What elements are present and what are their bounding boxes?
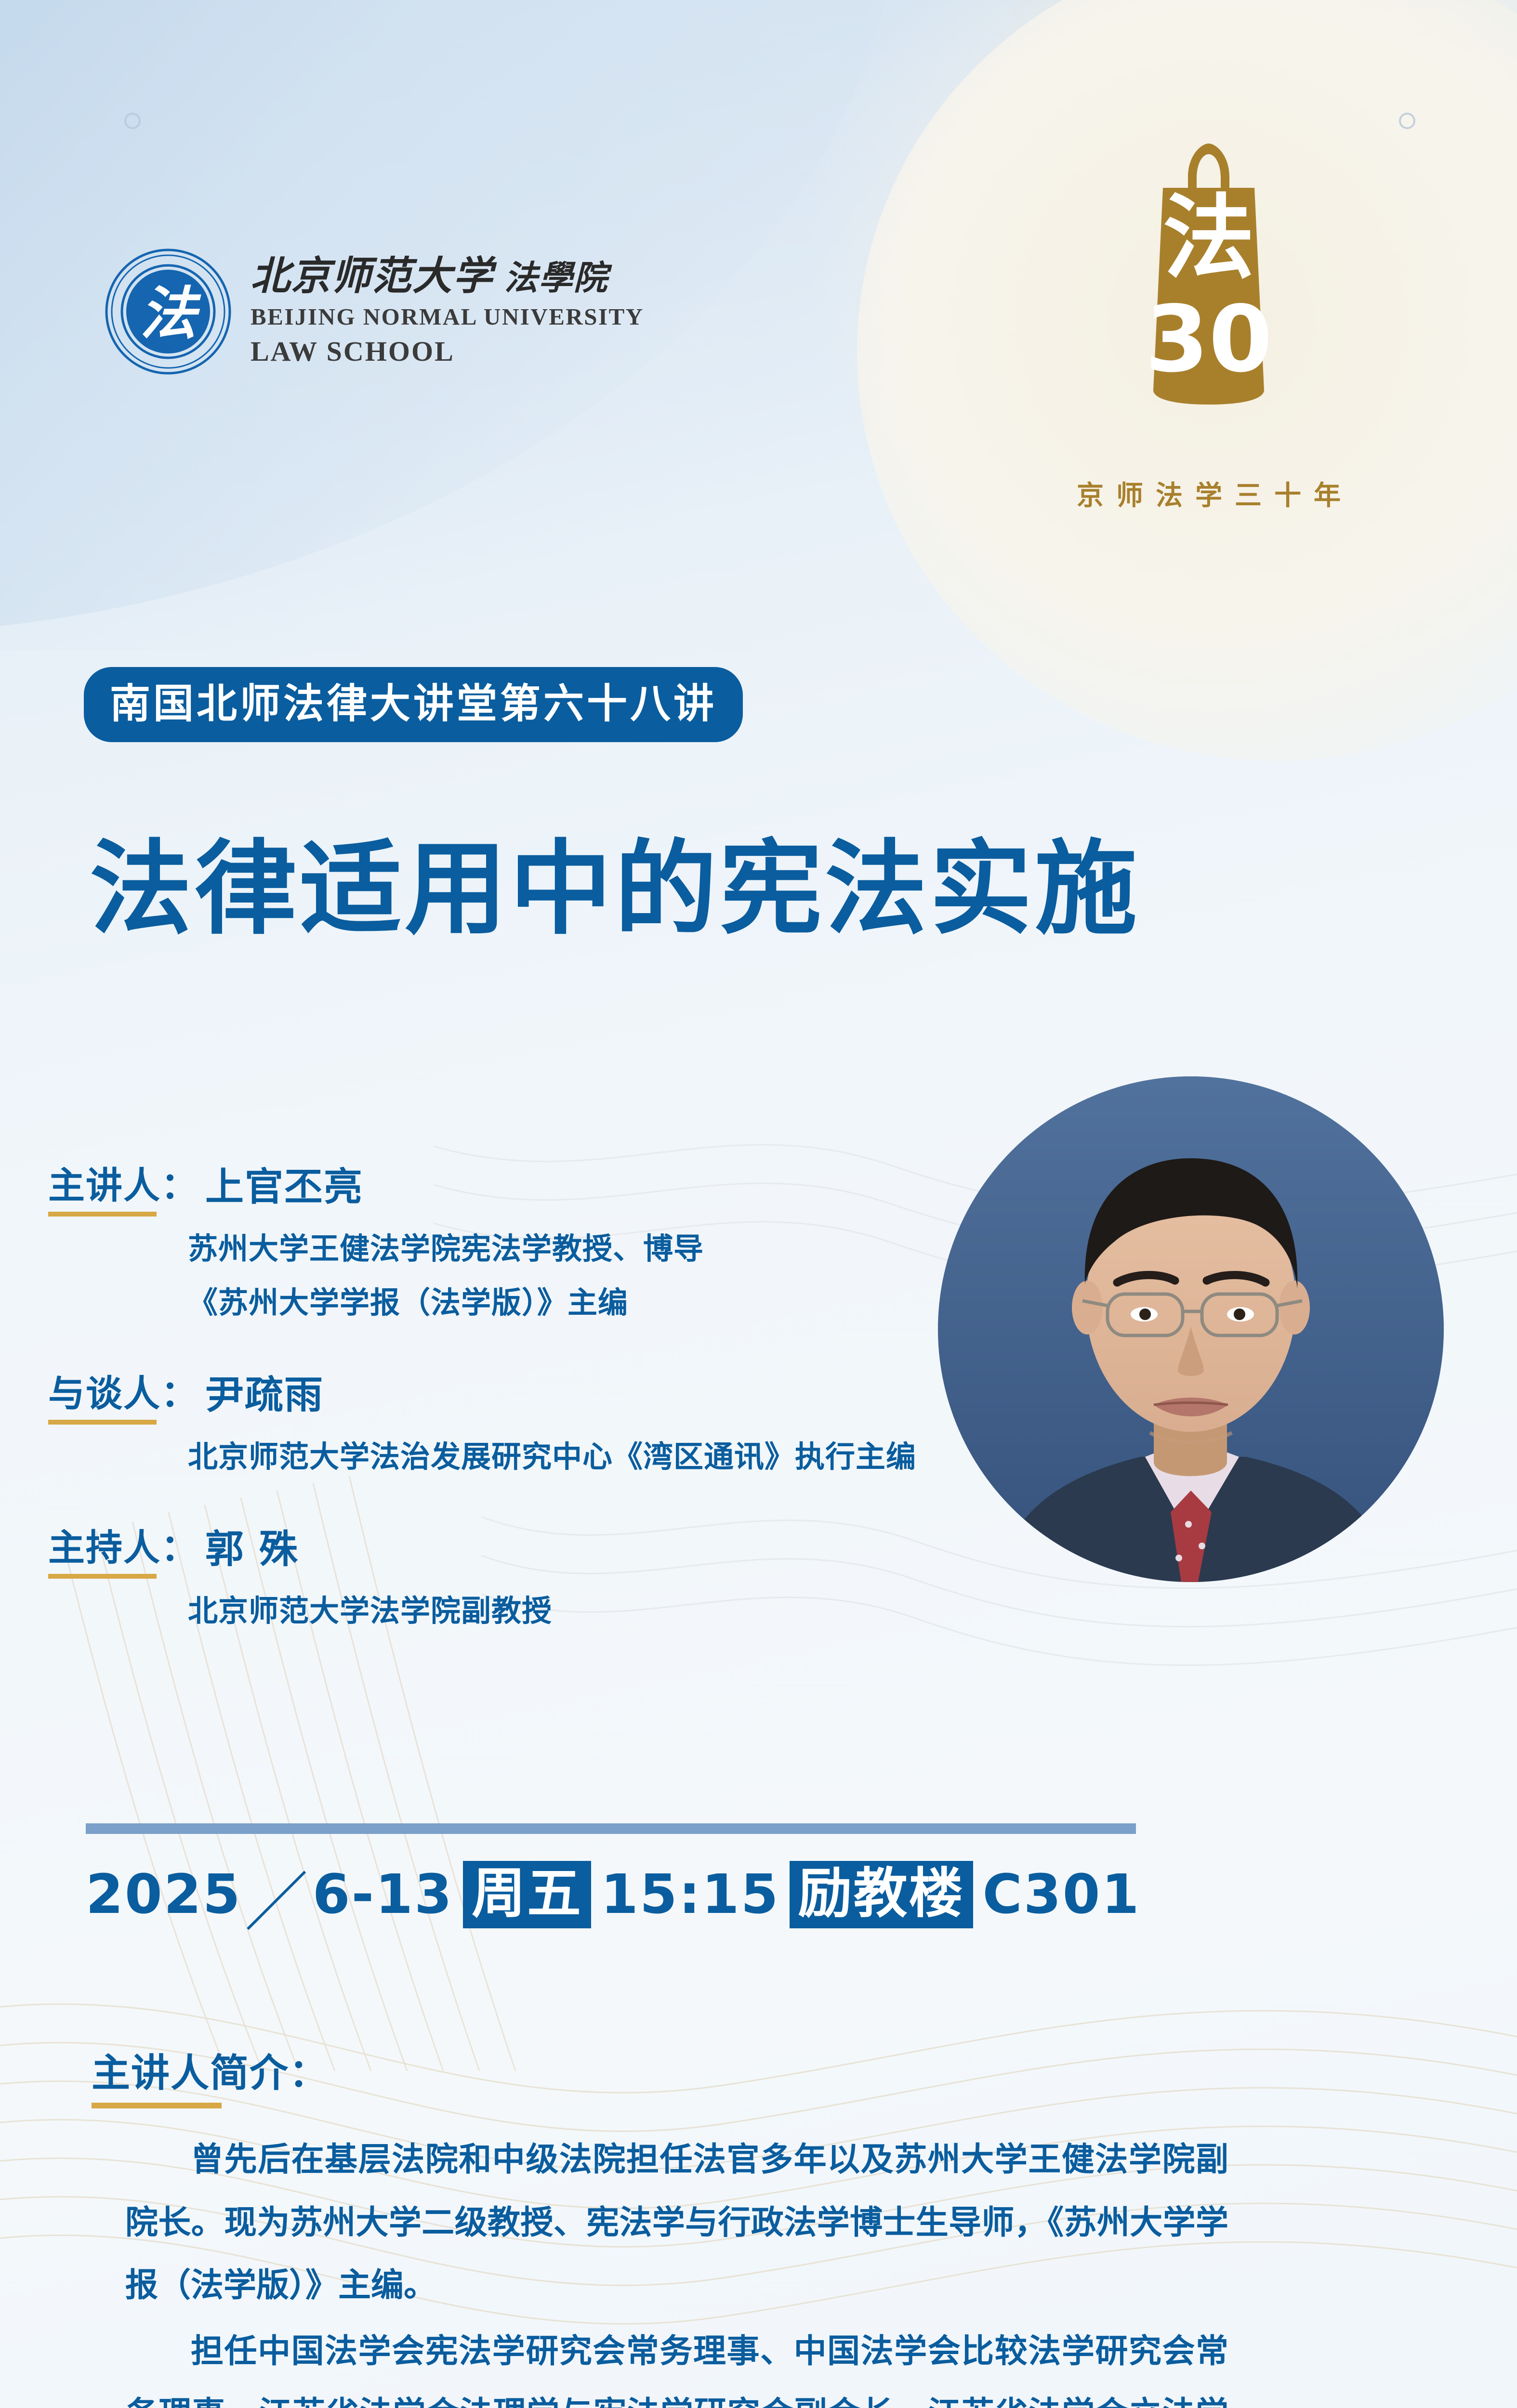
poster-header: 北京师范大学法学院 BEIJING NORMAL UNIVERSITY LAW … [0,0,1517,626]
anniversary-mark: 法 30 京师法学三十年 [1059,120,1358,513]
bio-paragraph: 担任中国法学会宪法学研究会常务理事、中国法学会比较法学研究会常务理事、江苏省法学… [125,2320,1228,2408]
person-role-label: 主讲人： [48,1156,198,1217]
bio-paragraph: 曾先后在基层法院和中级法院担任法官多年以及苏州大学王健法学院副院长。现为苏州大学… [125,2129,1228,2317]
anniversary-bell-icon: 法 30 [1105,120,1312,458]
institution-logo: 北京师范大学法学院 BEIJING NORMAL UNIVERSITY LAW … [105,249,644,375]
date-separator: ／ [242,1851,313,1943]
event-time: 15:15 [601,1863,780,1926]
bio-heading: 主讲人简介： [92,2042,329,2108]
date-divider [86,1823,1136,1834]
logo-en-school: LAW SCHOOL [251,335,644,367]
anniversary-caption: 京师法学三十年 [1059,474,1358,513]
person-name: 上官丕亮 [205,1156,363,1212]
event-weekday-chip: 周五 [463,1861,591,1928]
bnu-law-seal-icon: 北京师范大学法学院 BEIJING NORMAL UNIVERSITY LAW … [105,249,231,375]
logo-en-university: BEIJING NORMAL UNIVERSITY [251,303,644,330]
svg-text:法: 法 [140,280,201,347]
page-title: 法律适用中的宪法实施 [90,838,1140,940]
bio-body: 曾先后在基层法院和中级法院担任法官多年以及苏州大学王健法学院副院长。现为苏州大学… [125,2129,1228,2408]
event-datetime-bar: 2025 ／ 6-13 周五 15:15 励教楼 C301 [86,1848,1141,1940]
event-date: 6-13 [313,1863,453,1926]
speaker-portrait [938,1076,1444,1582]
anniversary-mark-number: 30 [1145,286,1272,393]
person-role-label: 与谈人： [48,1364,198,1425]
person-name: 郭 殊 [205,1518,299,1574]
poster-root: 北京师范大学法学院 BEIJING NORMAL UNIVERSITY LAW … [0,0,1517,2408]
lecture-series-badge: 南国北师法律大讲堂第六十八讲 [84,667,743,742]
logo-wordmark: 北京师范大学 法學院 BEIJING NORMAL UNIVERSITY LAW… [251,256,644,367]
event-year: 2025 [86,1863,242,1926]
person-role-label: 主持人： [48,1518,198,1579]
logo-cn-line: 北京师范大学 法學院 [251,256,644,297]
person-moderator: 主持人： 郭 殊 北京师范大学法学院副教授 [48,1518,1108,1633]
person-name: 尹疏雨 [205,1364,324,1420]
event-building-chip: 励教楼 [790,1861,973,1928]
event-room: C301 [983,1863,1141,1926]
person-affiliation-line: 北京师范大学法学院副教授 [188,1589,1108,1633]
anniversary-mark-char: 法 [1163,185,1254,291]
